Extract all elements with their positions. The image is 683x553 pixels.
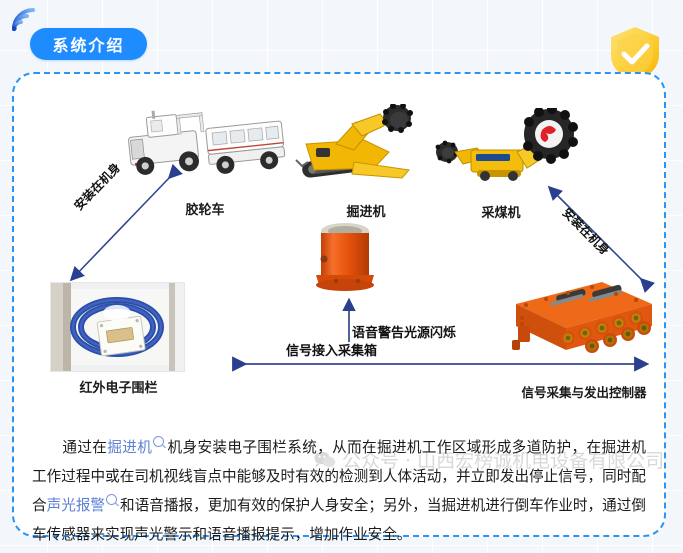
caption-signal-controller: 信号采集与发出控制器 xyxy=(510,382,658,401)
alarm-light-source-image xyxy=(310,219,380,297)
arrow-signal-into-collection-box xyxy=(236,357,654,371)
system-diagram: 胶轮车 xyxy=(14,74,664,404)
arrow-install-on-body-left xyxy=(62,169,182,289)
description-paragraph: 通过在掘进机机身安装电子围栏系统，从而在掘进机工作区域形成多道防护，在掘进机工作… xyxy=(32,433,646,549)
page-header: 系统介绍 xyxy=(0,0,683,78)
section-title-badge: 系统介绍 xyxy=(30,28,147,60)
caption-infrared-fence: 红外电子围栏 xyxy=(56,377,181,396)
caption-roadheader: 掘进机 xyxy=(326,201,406,220)
label-voice-warning-light-flash: 语音警告光源闪烁 xyxy=(352,322,456,341)
paragraph-part-3: 和语音播报，更加有效的保护人身安全；另外，当掘进机进行倒车作业时，通过倒车传感器… xyxy=(32,497,646,543)
search-icon-2[interactable] xyxy=(106,494,117,505)
paragraph-part-1: 通过在 xyxy=(62,439,107,456)
content-card: 胶轮车 xyxy=(12,72,666,537)
roadheader-image xyxy=(294,104,434,184)
keyword-link-roadheader[interactable]: 掘进机 xyxy=(107,439,152,456)
search-icon[interactable] xyxy=(153,436,164,447)
label-signal-into-collection-box: 信号接入采集箱 xyxy=(286,340,377,359)
infrared-electronic-fence-image xyxy=(50,282,185,372)
section-title-text: 系统介绍 xyxy=(52,32,124,56)
keyword-link-audible-visual-alarm[interactable]: 声光报警 xyxy=(47,497,105,514)
caption-coal-shearer: 采煤机 xyxy=(461,202,541,221)
coal-shearer-image xyxy=(429,108,579,192)
